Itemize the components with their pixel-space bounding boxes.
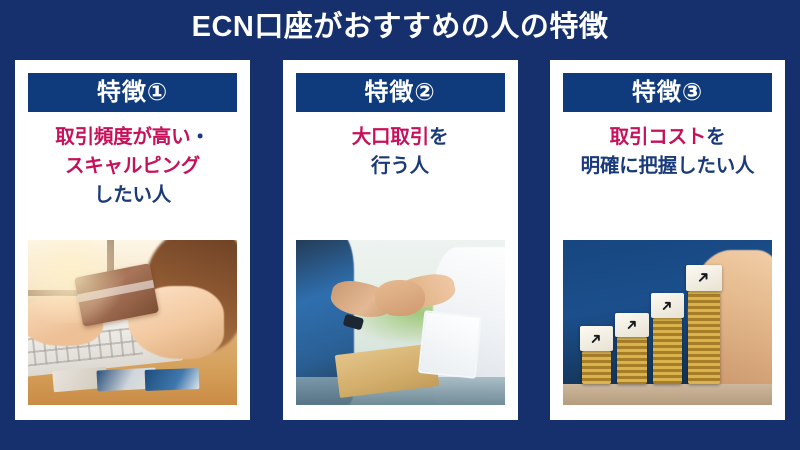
caption-line: 大口取引を	[296, 123, 505, 152]
photo-arrow-cube-1: ➜	[580, 326, 613, 351]
feature-card-3-caption: 取引コストを 明確に把握したい人	[563, 123, 772, 181]
slide-root: ECN口座がおすすめの人の特徴 特徴① 取引頻度が高い・ スキャルピング したい…	[0, 0, 800, 450]
caption-line: 行う人	[296, 152, 505, 181]
feature-card-2-header: 特徴②	[296, 73, 505, 112]
caption-highlight: 大口取引	[352, 126, 429, 148]
arrow-up-right-icon: ➜	[658, 296, 678, 316]
caption-plain: を	[706, 126, 725, 148]
photo-tablet	[418, 310, 483, 379]
photo-sun-glow	[28, 240, 133, 323]
caption-line: 明確に把握したい人	[563, 152, 772, 181]
feature-card-3-header: 特徴③	[563, 73, 772, 112]
caption-plain: したい人	[94, 184, 171, 206]
caption-highlight: 取引コスト	[610, 126, 707, 148]
feature-card-2: 特徴② 大口取引を 行う人	[283, 60, 518, 420]
caption-plain: ・	[190, 126, 209, 148]
photo-arrow-cube-4: ➜	[686, 265, 722, 291]
handshake-photo	[296, 240, 505, 405]
feature-card-1-header: 特徴①	[28, 73, 237, 112]
feature-card-2-caption: 大口取引を 行う人	[296, 123, 505, 181]
arrow-up-right-icon: ➜	[622, 316, 642, 336]
photo-table-surface	[563, 384, 772, 405]
feature-card-1: 特徴① 取引頻度が高い・ スキャルピング したい人	[15, 60, 250, 420]
photo-desk-card-3	[145, 368, 200, 391]
photo-handshake-grip	[375, 280, 425, 316]
caption-plain: を	[429, 126, 448, 148]
arrow-up-right-icon: ➜	[587, 329, 607, 349]
credit-card-laptop-photo	[28, 240, 237, 405]
caption-line: 取引コストを	[563, 123, 772, 152]
photo-coin-stack-2	[617, 337, 646, 383]
caption-line: スキャルピング	[28, 152, 237, 181]
photo-coin-stack-3	[653, 318, 682, 384]
caption-line: したい人	[28, 181, 237, 210]
caption-line: 取引頻度が高い・	[28, 123, 237, 152]
feature-card-list: 特徴① 取引頻度が高い・ スキャルピング したい人	[15, 60, 785, 420]
photo-coin-stack-1	[582, 351, 611, 384]
caption-highlight: 取引頻度が高い	[55, 126, 190, 148]
photo-arrow-cube-3: ➜	[651, 293, 684, 318]
photo-arrow-cube-2: ➜	[615, 313, 648, 338]
rising-coin-stacks-photo: ➜ ➜ ➜ ➜	[563, 240, 772, 405]
feature-card-1-caption: 取引頻度が高い・ スキャルピング したい人	[28, 123, 237, 210]
page-title: ECN口座がおすすめの人の特徴	[0, 8, 800, 46]
caption-plain: 行う人	[371, 155, 429, 177]
caption-highlight: スキャルピング	[65, 155, 200, 177]
arrow-up-right-icon: ➜	[694, 268, 715, 289]
caption-plain: 明確に把握したい人	[581, 155, 755, 177]
feature-card-3: 特徴③ 取引コストを 明確に把握したい人 ➜	[550, 60, 785, 420]
photo-coin-stack-4	[688, 291, 719, 383]
